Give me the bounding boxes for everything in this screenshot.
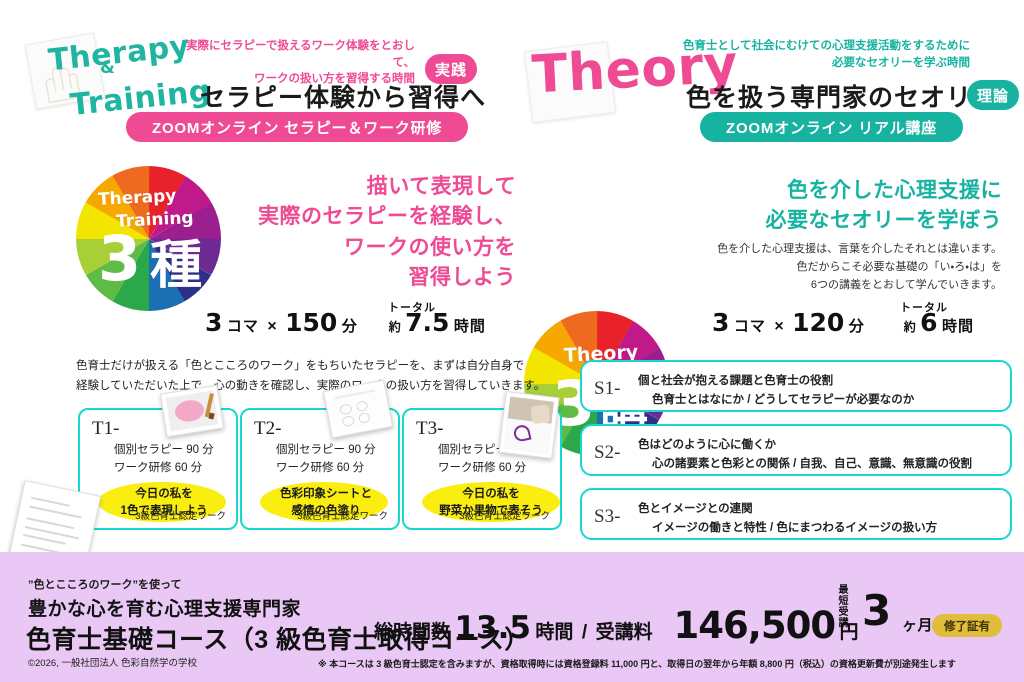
card-t2-line-1: 個別セラピー 90 分: [276, 442, 376, 460]
left-description-line-2: 経験していただいた上で、心の動きを確認し、実際のワークの扱い方を習得していきます…: [76, 377, 546, 397]
right-paragraph: 色を介した心理支援は、言葉を介したそれとは違います。 色だからこそ必要な基礎の「…: [690, 240, 1002, 294]
card-t2-footnote: 3級色育士認定ワーク: [297, 508, 388, 522]
row-s1-code: S1-: [594, 378, 620, 400]
footer-separator: /: [578, 622, 591, 643]
right-paragraph-line-3: 6つの講義をとおして学んでいきます。: [690, 276, 1002, 294]
card-t1-line-1: 個別セラピー 90 分: [114, 442, 214, 460]
right-paragraph-line-1: 色を介した心理支援は、言葉を介したそれとは違います。: [690, 240, 1002, 258]
right-sessions-count: 3: [712, 308, 729, 337]
total-hours-value: 13.5: [454, 610, 531, 646]
left-catch-line-3: ワークの使い方を: [186, 233, 516, 263]
right-catch-copy: 色を介した心理支援に 必要なセオリーを学ぼう: [690, 176, 1002, 237]
card-t1-highlight-line-1: 今日の私を: [104, 486, 224, 503]
total-hours-label: 総時間数: [374, 622, 450, 643]
photo-pink-painting: [160, 385, 224, 438]
left-description: 色育士だけが扱える「色とこころのワーク」をもちいたセラピーを、まずは自分自身で …: [76, 357, 546, 396]
row-s1-title: 個と社会が抱える課題と色育士の役割: [638, 372, 833, 388]
row-s3-title: 色とイメージとの連関: [638, 500, 753, 516]
left-minutes-value: 150: [285, 308, 337, 337]
shortest-term-label: 最短受講: [836, 584, 847, 644]
right-badge-riron: 理論: [967, 80, 1019, 110]
card-t3-code: T3-: [416, 418, 443, 440]
right-lead-text: 色育士として社会にむけての心理支援活動をするために 必要なセオリーを学ぶ時間: [680, 38, 970, 71]
card-t1-footnote: 3級色育士認定ワーク: [135, 508, 226, 522]
row-s2-title: 色はどのように心に働くか: [638, 436, 776, 452]
row-s2-detail: 心の諸要素と色彩との関係 / 自我、自己、意識、無意識の役割: [652, 455, 972, 471]
card-t1-code: T1-: [92, 418, 119, 440]
card-t3-line-2: ワーク研修 60 分: [438, 460, 538, 478]
card-t2-line-2: ワーク研修 60 分: [276, 460, 376, 478]
right-total-unit: 時間: [942, 318, 974, 335]
right-approx-label: 約: [904, 320, 916, 334]
left-minutes-unit: 分: [342, 318, 358, 335]
card-t2-lines: 個別セラピー 90 分 ワーク研修 60 分: [276, 442, 376, 478]
right-pill-zoom-course[interactable]: ZOOMオンライン リアル講座: [700, 112, 963, 142]
photo-drawing-hands: [498, 391, 559, 459]
card-t3-highlight-line-1: 今日の私を: [428, 486, 554, 503]
fee-label: 受講料: [596, 622, 653, 643]
card-t2-code: T2-: [254, 418, 281, 440]
right-catch-line-2: 必要なセオリーを学ぼう: [690, 206, 1002, 236]
left-sessions-count: 3: [205, 308, 222, 337]
right-minutes-unit: 分: [849, 318, 865, 335]
row-s1[interactable]: S1- 個と社会が抱える課題と色育士の役割 色育士とはなにか / どうしてセラピ…: [580, 360, 1012, 412]
right-lead-line-2: 必要なセオリーを学ぶ時間: [680, 55, 970, 72]
footer-note: ※ 本コースは 3 級色育士認定を含みますが、資格取得時には資格登録料 11,0…: [318, 657, 1018, 670]
footer-title: 色育士基礎コース: [26, 626, 229, 654]
months-unit: ヶ月: [902, 614, 933, 635]
row-s3[interactable]: S3- 色とイメージとの連関 イメージの働きと特性 / 色にまつわるイメージの扱…: [580, 488, 1012, 540]
left-catch-line-1: 描いて表現して: [186, 172, 516, 202]
total-hours-unit: 時間: [535, 622, 573, 643]
infographic-page: Therapy & Training 実際にセラピーで扱えるワーク体験をとおして…: [0, 0, 1024, 682]
card-t1-lines: 個別セラピー 90 分 ワーク研修 60 分: [114, 442, 214, 478]
row-s3-code: S3-: [594, 506, 620, 528]
card-t2-highlight-line-1: 色彩印象シートと: [266, 486, 386, 503]
row-s2[interactable]: S2- 色はどのように心に働くか 心の諸要素と色彩との関係 / 自我、自己、意識…: [580, 424, 1012, 476]
left-total-value: 7.5: [405, 308, 449, 337]
right-total-value: 6: [920, 308, 937, 337]
row-s1-detail: 色育士とはなにか / どうしてセラピーが必要なのか: [652, 391, 914, 407]
right-sessions-unit: コマ: [734, 318, 766, 335]
row-s3-detail: イメージの働きと特性 / 色にまつわるイメージの扱い方: [652, 519, 937, 535]
right-duration-line: 3 コマ × 120 分 約 6 時間: [712, 308, 974, 337]
certificate-badge: 修了証有: [932, 614, 1002, 637]
left-total-unit: 時間: [454, 318, 486, 335]
left-catch-copy: 描いて表現して 実際のセラピーを経験し、 ワークの使い方を 習得しよう: [186, 172, 516, 294]
right-lead-line-1: 色育士として社会にむけての心理支援活動をするために: [680, 38, 970, 55]
right-headline: 色を扱う専門家のセオリー: [686, 78, 998, 114]
right-times-symbol: ×: [770, 318, 787, 335]
left-catch-line-4: 習得しよう: [186, 263, 516, 293]
footer-subtitle: 豊かな心を育む心理支援専門家: [28, 594, 301, 621]
card-t1-line-2: ワーク研修 60 分: [114, 460, 214, 478]
fee-value: 146,500: [674, 604, 836, 647]
months-value: 3: [862, 590, 891, 632]
footer-tagline: ”色とこころのワーク”を使って: [28, 576, 181, 592]
row-s2-code: S2-: [594, 442, 620, 464]
footer-banner: ”色とこころのワーク”を使って 豊かな心を育む心理支援専門家 色育士基礎コース（…: [0, 552, 1024, 682]
left-lead-line-1: 実際にセラピーで扱えるワーク体験をとおして、: [175, 38, 415, 71]
right-catch-line-1: 色を介した心理支援に: [690, 176, 1002, 206]
right-minutes-value: 120: [792, 308, 844, 337]
footer-price-line: 総時間数 13.5 時間 / 受講料 146,500 円: [374, 604, 859, 647]
left-pill-zoom-course[interactable]: ZOOMオンライン セラピー＆ワーク研修: [126, 112, 468, 142]
footer-copyright: ©2026, 一般社団法人 色彩自然学の学校: [28, 655, 197, 669]
left-approx-label: 約: [389, 320, 401, 334]
card-t3-footnote: 3級色育士認定ワーク: [459, 508, 550, 522]
left-duration-line: 3 コマ × 150 分 約 7.5 時間: [205, 308, 486, 337]
right-paragraph-line-2: 色だからこそ必要な基礎の「い・ろ・は」を: [690, 258, 1002, 276]
left-badge-jissen: 実践: [425, 54, 477, 84]
left-catch-line-2: 実際のセラピーを経験し、: [186, 202, 516, 232]
left-sessions-unit: コマ: [227, 318, 259, 335]
left-description-line-1: 色育士だけが扱える「色とこころのワーク」をもちいたセラピーを、まずは自分自身で: [76, 357, 546, 377]
left-times-symbol: ×: [263, 318, 280, 335]
